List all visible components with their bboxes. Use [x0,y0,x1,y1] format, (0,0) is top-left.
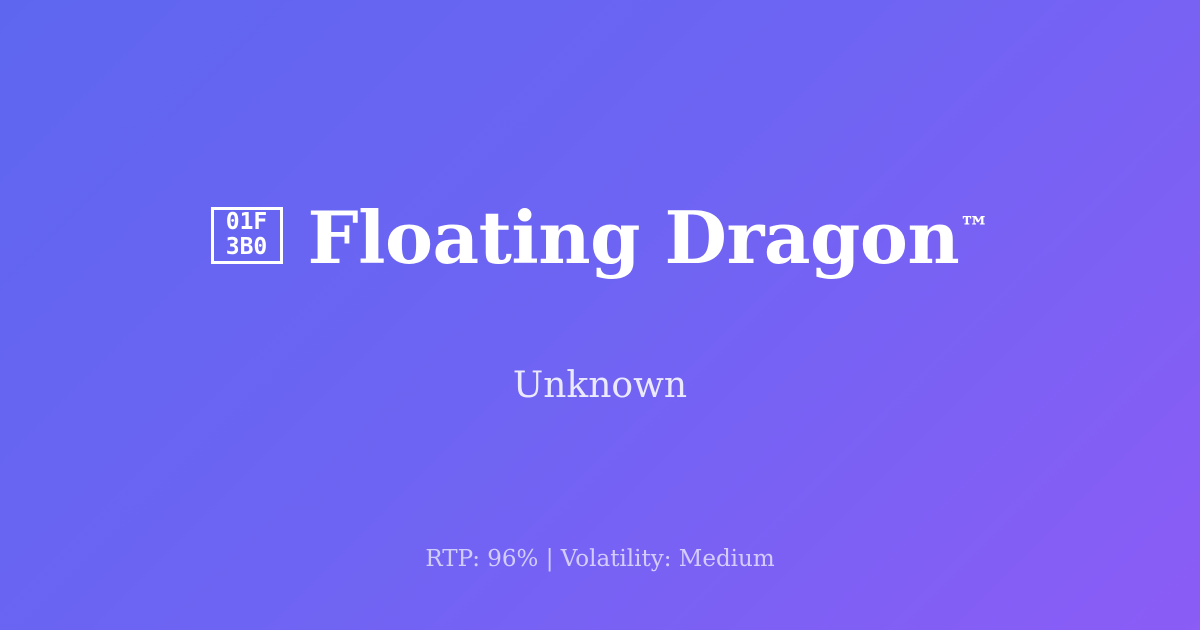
game-provider-subtitle: Unknown [0,362,1200,410]
tofu-codepoint-bottom: 3B0 [226,235,268,260]
game-title: Floating Dragon™ [308,202,990,274]
game-title-name: Floating Dragon [308,195,960,280]
trademark-symbol: ™ [959,211,989,246]
slot-machine-icon: 01F 3B0 [211,207,283,264]
tofu-codepoint-top: 01F [226,210,268,235]
game-stats-footer: RTP: 96% | Volatility: Medium [0,544,1200,574]
game-promo-card: 01F 3B0 Floating Dragon™ Unknown RTP: 96… [0,0,1200,630]
